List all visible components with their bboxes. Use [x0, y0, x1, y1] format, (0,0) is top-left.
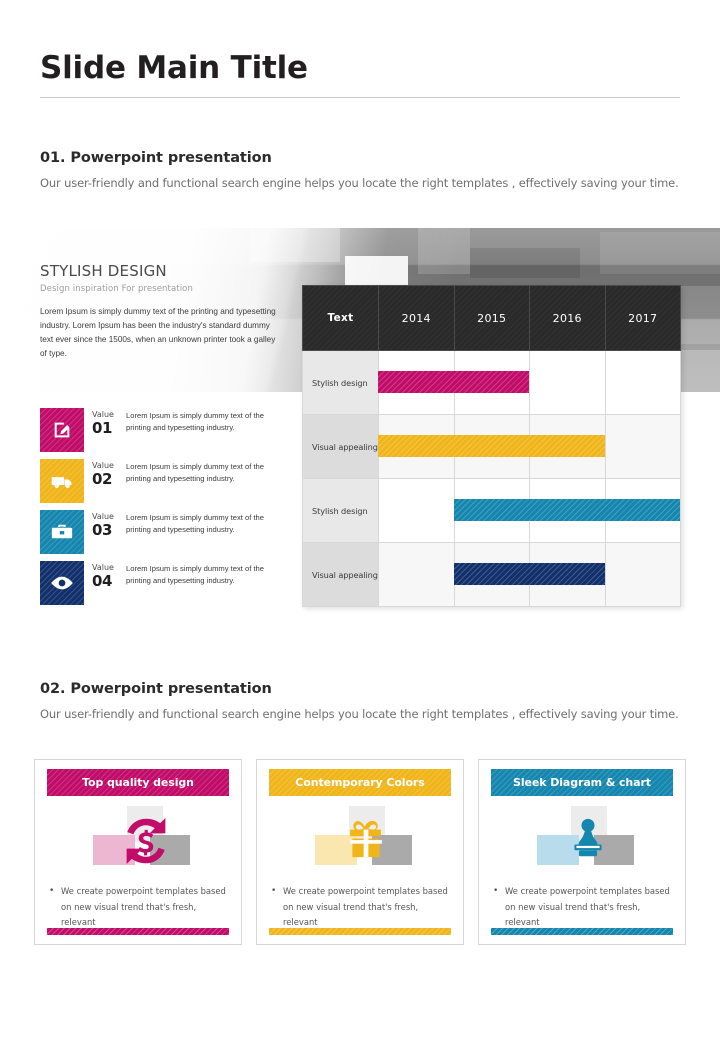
value-number: 01 — [92, 420, 122, 437]
card-accent-bar — [47, 928, 229, 935]
cell-2014 — [379, 543, 455, 607]
cell-2017 — [605, 543, 681, 607]
gantt-table: Text 2014 2015 2016 2017 Stylish design … — [302, 285, 681, 607]
slide-canvas: Slide Main Title 01. Powerpoint presenta… — [0, 0, 720, 1040]
photo-block — [470, 248, 580, 278]
value-number-block-02: Value 02 — [84, 459, 122, 488]
column-header-2017: 2017 — [605, 286, 681, 351]
card-contemporary-colors[interactable]: Contemporary Colors • We create powerpoi… — [256, 759, 464, 945]
row-label: Visual appealing — [303, 415, 379, 479]
dollar-recycle-icon — [115, 810, 177, 872]
section-01-subtitle: Our user-friendly and functional search … — [40, 176, 680, 190]
card-accent-bar — [269, 928, 451, 935]
table-row: Visual appealing — [303, 415, 681, 479]
page-title: Slide Main Title — [40, 52, 680, 85]
list-item[interactable]: Value 03 Lorem Ipsum is simply dummy tex… — [40, 510, 290, 554]
stamp-icon — [559, 810, 617, 868]
row-label: Stylish design — [303, 479, 379, 543]
value-tile-02[interactable] — [40, 459, 84, 503]
cell-2016 — [530, 479, 606, 543]
cell-2017 — [605, 415, 681, 479]
stylish-design-title: STYLISH DESIGN — [40, 262, 300, 280]
card-title-banner: Sleek Diagram & chart — [491, 769, 673, 796]
card-sleek-diagram-chart[interactable]: Sleek Diagram & chart • We create powerp… — [478, 759, 686, 945]
value-number-block-03: Value 03 — [84, 510, 122, 539]
card-body-text: We create powerpoint templates based on … — [61, 884, 229, 931]
cell-2016 — [530, 415, 606, 479]
cell-2017 — [605, 351, 681, 415]
briefcase-icon — [50, 522, 74, 542]
table-row: Stylish design — [303, 351, 681, 415]
column-header-2015: 2015 — [454, 286, 530, 351]
card-icon-area — [479, 806, 685, 878]
cell-2016 — [530, 351, 606, 415]
card-row: Top quality design • We create powerpoin… — [34, 759, 686, 945]
value-description: Lorem Ipsum is simply dummy text of the … — [122, 510, 290, 537]
cell-2016 — [530, 543, 606, 607]
card-body: • We create powerpoint templates based o… — [271, 884, 451, 931]
stylish-design-body: Lorem Ipsum is simply dummy text of the … — [40, 305, 276, 361]
section-header-01: 01. Powerpoint presentation Our user-fri… — [40, 150, 680, 190]
value-number: 02 — [92, 471, 122, 488]
cell-2015 — [454, 479, 530, 543]
truck-icon — [50, 471, 74, 491]
gantt-table-head: Text 2014 2015 2016 2017 — [303, 286, 681, 351]
section-02-subtitle: Our user-friendly and functional search … — [40, 707, 680, 721]
card-body-text: We create powerpoint templates based on … — [505, 884, 673, 931]
cell-2015 — [454, 415, 530, 479]
value-description: Lorem Ipsum is simply dummy text of the … — [122, 561, 290, 588]
table-header-row: Text 2014 2015 2016 2017 — [303, 286, 681, 351]
cell-2015 — [454, 351, 530, 415]
value-tile-01[interactable] — [40, 408, 84, 452]
card-top-quality-design[interactable]: Top quality design • We create powerpoin… — [34, 759, 242, 945]
photo-block — [250, 228, 340, 262]
card-title-banner: Contemporary Colors — [269, 769, 451, 796]
table-row: Visual appealing — [303, 543, 681, 607]
value-list: Value 01 Lorem Ipsum is simply dummy tex… — [40, 408, 290, 612]
list-item[interactable]: Value 02 Lorem Ipsum is simply dummy tex… — [40, 459, 290, 503]
stylish-design-block: STYLISH DESIGN Design inspiration For pr… — [40, 262, 300, 361]
value-tile-03[interactable] — [40, 510, 84, 554]
title-block: Slide Main Title — [40, 52, 680, 98]
row-label: Stylish design — [303, 351, 379, 415]
value-number-block-01: Value 01 — [84, 408, 122, 437]
cell-2015 — [454, 543, 530, 607]
bullet-icon: • — [49, 884, 61, 931]
card-accent-bar — [491, 928, 673, 935]
card-body-text: We create powerpoint templates based on … — [283, 884, 451, 931]
gantt-table-body: Stylish design Visual appealing Stylish … — [303, 351, 681, 607]
gift-box-icon — [337, 810, 395, 868]
row-label: Visual appealing — [303, 543, 379, 607]
value-tile-04[interactable] — [40, 561, 84, 605]
card-title: Sleek Diagram & chart — [513, 776, 651, 789]
section-01-title: 01. Powerpoint presentation — [40, 150, 680, 166]
card-icon-area — [257, 806, 463, 878]
card-body: • We create powerpoint templates based o… — [493, 884, 673, 931]
bullet-icon: • — [493, 884, 505, 931]
cell-2014 — [379, 479, 455, 543]
bullet-icon: • — [271, 884, 283, 931]
card-title: Contemporary Colors — [295, 776, 424, 789]
value-description: Lorem Ipsum is simply dummy text of the … — [122, 408, 290, 435]
column-header-2014: 2014 — [379, 286, 455, 351]
column-header-text: Text — [303, 286, 379, 351]
cell-2017 — [605, 479, 681, 543]
value-number-block-04: Value 04 — [84, 561, 122, 590]
title-divider — [40, 97, 680, 98]
eye-icon — [49, 575, 75, 591]
stylish-design-subtitle: Design inspiration For presentation — [40, 284, 300, 294]
edit-square-icon — [51, 419, 73, 441]
value-number: 04 — [92, 573, 122, 590]
column-header-2016: 2016 — [530, 286, 606, 351]
card-title-banner: Top quality design — [47, 769, 229, 796]
cell-2014 — [379, 351, 455, 415]
section-02-title: 02. Powerpoint presentation — [40, 681, 680, 697]
list-item[interactable]: Value 04 Lorem Ipsum is simply dummy tex… — [40, 561, 290, 605]
list-item[interactable]: Value 01 Lorem Ipsum is simply dummy tex… — [40, 408, 290, 452]
card-icon-area — [35, 806, 241, 878]
card-body: • We create powerpoint templates based o… — [49, 884, 229, 931]
value-description: Lorem Ipsum is simply dummy text of the … — [122, 459, 290, 486]
photo-block — [600, 232, 720, 274]
value-number: 03 — [92, 522, 122, 539]
cell-2014 — [379, 415, 455, 479]
card-title: Top quality design — [82, 776, 194, 789]
photo-block — [418, 228, 470, 274]
section-header-02: 02. Powerpoint presentation Our user-fri… — [40, 681, 680, 721]
table-row: Stylish design — [303, 479, 681, 543]
